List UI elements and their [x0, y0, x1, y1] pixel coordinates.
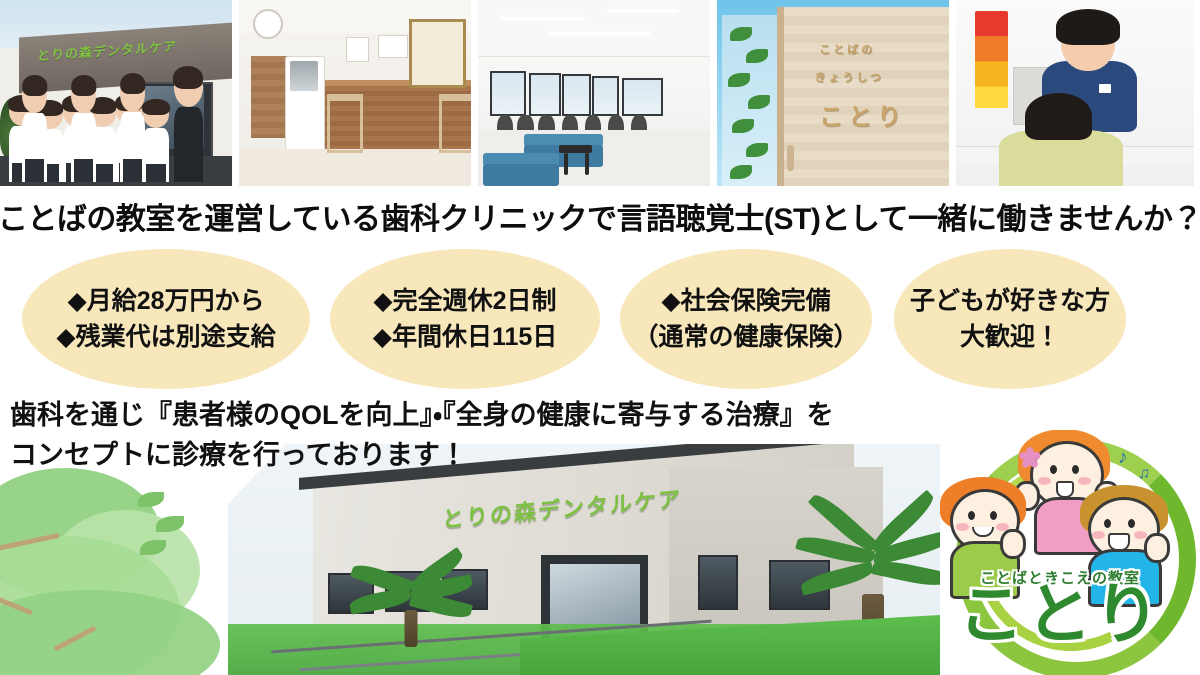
music-note-icon: ♫: [1138, 465, 1150, 483]
table: [559, 145, 591, 152]
benefit-badge-holidays: ◆完全週休2日制 ◆年間休日115日: [330, 249, 600, 389]
ceiling-light: [548, 32, 650, 35]
concept-line-2: コンセプトに診療を行っております！: [10, 436, 890, 476]
badge-line-1: ◆社会保険完備: [661, 283, 830, 319]
framed-calligraphy: [409, 19, 466, 88]
ceiling-light: [608, 9, 678, 12]
badge-line-2: ◆年間休日115日: [373, 319, 558, 355]
staff-name-badge: [1099, 84, 1111, 93]
wall-pocket-organizer: [975, 11, 1008, 108]
headline: ことばの教室を運営している歯科クリニックで言語聴覚士(ST)として一緒に働きませ…: [0, 191, 1200, 241]
staff-group-photo: とりの森デンタルケア: [0, 0, 232, 186]
ceiling-light: [501, 17, 585, 20]
badge-line-2: 大歓迎！: [960, 319, 1060, 355]
wall-clock-icon: [253, 9, 283, 39]
badge-line-2: （通常の健康保険）: [633, 319, 858, 355]
benefit-badge-salary: ◆月給28万円から ◆残業代は別途支給: [22, 249, 310, 389]
table-leg: [564, 153, 569, 175]
staff-person: [143, 100, 170, 182]
logo-title: ことり: [932, 581, 1188, 647]
waiting-room-photo: [478, 0, 710, 186]
stool: [439, 94, 471, 152]
staff-person: [22, 78, 46, 183]
badge-line-1: ◆月給28万円から: [67, 283, 264, 319]
window: [592, 76, 619, 115]
door-sign-line2: きょうしつ: [814, 69, 883, 85]
window: [562, 74, 592, 115]
stool: [327, 94, 363, 152]
wood-panel: [251, 56, 288, 138]
hair-flower-icon: [1020, 447, 1040, 467]
window: [698, 555, 738, 610]
reception-counter-photo: [239, 0, 471, 186]
staff-person-lead: [174, 68, 203, 182]
kiosk-screen: [290, 61, 318, 91]
window: [529, 73, 561, 116]
door-sign-line3: ことり: [819, 97, 906, 132]
staff-row: [5, 63, 228, 182]
staff-person: [120, 75, 144, 182]
table-leg: [585, 153, 590, 175]
benefit-badge-insurance: ◆社会保険完備 （通常の健康保険）: [620, 249, 872, 389]
badge-line-1: 子どもが好きな方: [910, 283, 1110, 319]
palm-tree: [356, 575, 466, 647]
benefit-badge-welcome: 子どもが好きな方 大歓迎！: [894, 249, 1126, 389]
staff-hair: [1056, 9, 1120, 44]
bench: [483, 164, 560, 186]
floor: [239, 149, 471, 186]
music-note-icon: ♪: [1118, 447, 1128, 469]
staff-person: [71, 78, 95, 183]
window: [490, 71, 526, 116]
photo-strip: とりの森デンタルケア: [0, 0, 1200, 186]
window: [622, 78, 663, 115]
concept-line-1: 歯科を通じ『患者様のQOLを向上』・『全身の健康に寄与する治療』を: [10, 396, 890, 436]
ivy-column: [722, 15, 778, 186]
badge-line-1: ◆完全週休2日制: [373, 283, 556, 319]
door-knob: [787, 145, 794, 171]
staff-with-child-photo: [956, 0, 1194, 186]
door-sign-line1: ことばの: [819, 41, 875, 57]
wall-poster: [346, 37, 369, 61]
recruitment-banner: とりの森デンタルケア: [0, 0, 1200, 675]
wall-poster: [378, 35, 408, 57]
kotori-logo: ♪ ♫ ことばときこえの教室 ことり: [932, 430, 1188, 669]
badge-line-2: ◆残業代は別途支給: [56, 319, 275, 355]
leaf: [138, 492, 164, 507]
kotoba-door-photo: ことばの きょうしつ ことり: [717, 0, 949, 186]
concept-text: 歯科を通じ『患者様のQOLを向上』・『全身の健康に寄与する治療』を コンセプトに…: [10, 396, 890, 476]
child-hair: [1025, 93, 1092, 140]
benefit-badges: ◆月給28万円から ◆残業代は別途支給 ◆完全週休2日制 ◆年間休日115日 ◆…: [0, 249, 1200, 389]
